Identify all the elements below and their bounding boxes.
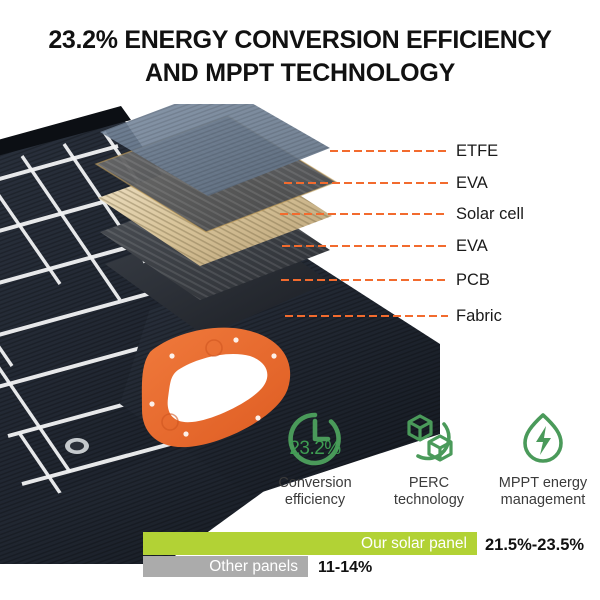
comparison-bar-label-our-panel: Our solar panel: [361, 535, 477, 553]
callout-label-solar-cell: Solar cell: [456, 206, 524, 223]
feature-label-line-1: PERC: [372, 475, 486, 492]
feature-label-line-2: technology: [372, 492, 486, 509]
callout-label-eva-top: EVA: [456, 175, 488, 192]
callout-label-pcb: PCB: [456, 272, 490, 289]
comparison-value-other-panels: 11-14%: [318, 560, 372, 576]
conversion-efficiency-gauge-icon: 23.2%: [258, 408, 372, 470]
feature-perc-technology: PERC technology: [372, 408, 486, 509]
feature-label-line-1: Conversion: [258, 475, 372, 492]
feature-label-conversion-efficiency: Conversion efficiency: [258, 475, 372, 509]
title-line-1: 23.2% ENERGY CONVERSION EFFICIENCY: [0, 24, 600, 57]
page-title: 23.2% ENERGY CONVERSION EFFICIENCY AND M…: [0, 24, 600, 90]
leader-line-eva-top: [284, 182, 448, 184]
callout-label-etfe: ETFE: [456, 143, 498, 160]
feature-label-mppt-energy-management: MPPT energy management: [486, 475, 600, 509]
efficiency-comparison-chart: Our solar panel 21.5%-23.5% Other panels…: [0, 528, 600, 580]
feature-conversion-efficiency: 23.2% Conversion efficiency: [258, 408, 372, 509]
leader-line-etfe: [330, 150, 448, 152]
comparison-bar-label-other-panels: Other panels: [209, 558, 308, 576]
leader-line-solar-cell: [280, 213, 448, 215]
callout-label-eva-bottom: EVA: [456, 238, 488, 255]
feature-label-line-2: efficiency: [258, 492, 372, 509]
feature-label-line-2: management: [486, 492, 600, 509]
grommet-icon: [65, 438, 89, 454]
leader-line-eva-bottom: [282, 245, 448, 247]
callout-label-fabric: Fabric: [456, 308, 502, 325]
infographic-root: 23.2% ENERGY CONVERSION EFFICIENCY AND M…: [0, 0, 600, 600]
mppt-leaf-bolt-icon: [486, 408, 600, 470]
leader-line-fabric: [285, 315, 448, 317]
comparison-bar-other-panels: Other panels: [143, 556, 308, 577]
conversion-efficiency-value: 23.2%: [258, 438, 372, 460]
perc-cubes-icon: [372, 408, 486, 470]
comparison-value-our-panel: 21.5%-23.5%: [485, 537, 584, 554]
leader-line-pcb: [281, 279, 448, 281]
feature-label-perc-technology: PERC technology: [372, 475, 486, 509]
comparison-bar-our-panel: Our solar panel: [143, 532, 477, 555]
title-line-2: AND MPPT TECHNOLOGY: [0, 57, 600, 90]
feature-list: 23.2% Conversion efficiency: [258, 408, 600, 518]
feature-mppt-energy-management: MPPT energy management: [486, 408, 600, 509]
feature-label-line-1: MPPT energy: [486, 475, 600, 492]
